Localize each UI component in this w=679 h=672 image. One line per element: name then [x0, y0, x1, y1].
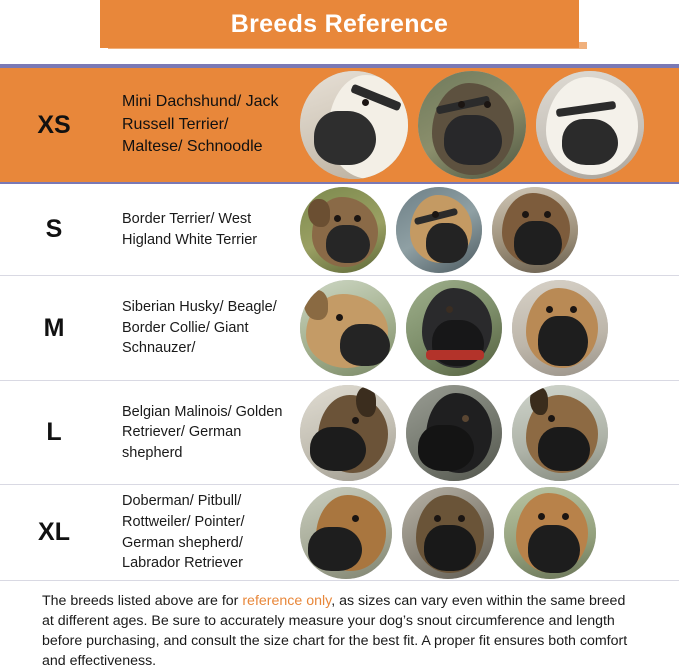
size-label: M: [0, 276, 108, 380]
footer-note: The breeds listed above are for referenc…: [0, 581, 679, 672]
breeds-text: Mini Dachshund/ Jack Russell Terrier/ Ma…: [108, 68, 300, 182]
photo-s-1: [300, 187, 386, 273]
header: Breeds Reference: [0, 0, 679, 58]
photo-group: [300, 276, 679, 380]
note-part-1: The breeds listed above are for: [42, 593, 242, 609]
photo-xs-2: [418, 71, 526, 179]
photo-m-1: [300, 280, 396, 376]
breeds-text: Siberian Husky/ Beagle/ Border Collie/ G…: [108, 276, 300, 380]
breeds-text: Doberman/ Pitbull/ Rottweiler/ Pointer/ …: [108, 485, 300, 580]
photo-l-1: [300, 385, 396, 481]
table-row: XL Doberman/ Pitbull/ Rottweiler/ Pointe…: [0, 485, 679, 581]
photo-group: [300, 68, 679, 182]
photo-xl-2: [402, 487, 494, 579]
photo-l-3: [512, 385, 608, 481]
photo-xl-1: [300, 487, 392, 579]
photo-m-2: [406, 280, 502, 376]
page-title: Breeds Reference: [100, 0, 579, 48]
table-row: XS Mini Dachshund/ Jack Russell Terrier/…: [0, 66, 679, 184]
photo-group: [300, 485, 679, 580]
photo-s-2: [396, 187, 482, 273]
breeds-text: Belgian Malinois/ Golden Retriever/ Germ…: [108, 381, 300, 484]
note-highlight: reference only: [242, 593, 331, 609]
photo-xs-1: [300, 71, 408, 179]
photo-m-3: [512, 280, 608, 376]
breeds-reference-page: Breeds Reference XS Mini Dachshund/ Jack…: [0, 0, 679, 672]
size-label: XL: [0, 485, 108, 580]
table-row: L Belgian Malinois/ Golden Retriever/ Ge…: [0, 381, 679, 485]
photo-group: [300, 381, 679, 484]
photo-xl-3: [504, 487, 596, 579]
breeds-text: Border Terrier/ West Higland White Terri…: [108, 184, 300, 275]
table-row: M Siberian Husky/ Beagle/ Border Collie/…: [0, 276, 679, 381]
photo-xs-3: [536, 71, 644, 179]
size-label: XS: [0, 68, 108, 182]
table-row: S Border Terrier/ West Higland White Ter…: [0, 184, 679, 276]
photo-l-2: [406, 385, 502, 481]
photo-group: [300, 184, 679, 275]
breeds-table: XS Mini Dachshund/ Jack Russell Terrier/…: [0, 64, 679, 581]
size-label: S: [0, 184, 108, 275]
photo-s-3: [492, 187, 578, 273]
size-label: L: [0, 381, 108, 484]
